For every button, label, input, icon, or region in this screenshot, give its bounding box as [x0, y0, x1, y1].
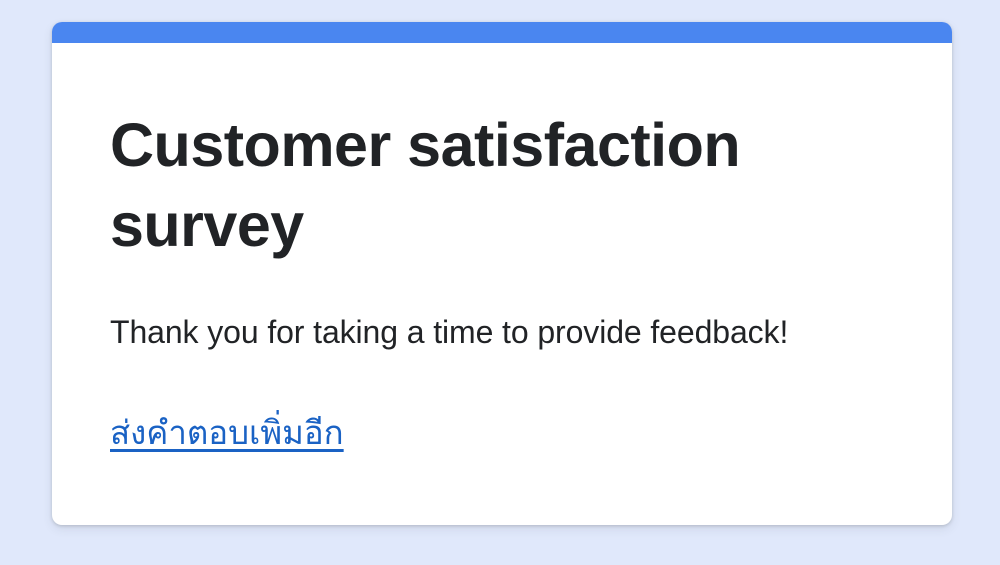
- form-title: Customer satisfaction survey: [110, 105, 900, 265]
- submit-another-row: ส่งคำตอบเพิ่มอีก: [110, 353, 906, 453]
- card-body: Customer satisfaction survey Thank you f…: [52, 43, 952, 525]
- submit-another-response-link[interactable]: ส่งคำตอบเพิ่มอีก: [110, 413, 344, 453]
- form-confirmation-page: Customer satisfaction survey Thank you f…: [0, 0, 1000, 565]
- confirmation-message: Thank you for taking a time to provide f…: [110, 265, 906, 353]
- card-accent-bar: [52, 22, 952, 43]
- form-card: Customer satisfaction survey Thank you f…: [52, 22, 952, 525]
